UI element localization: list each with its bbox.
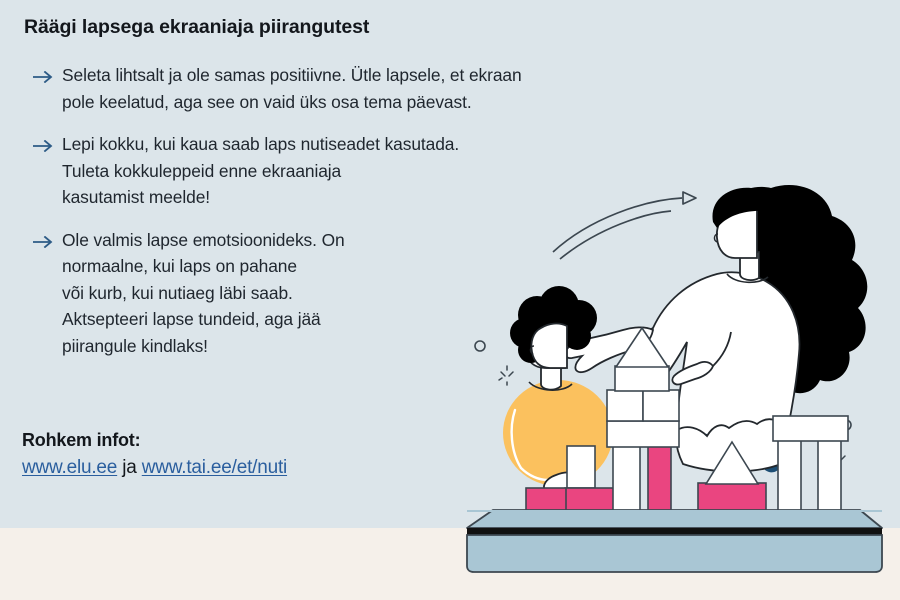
link-elu-ee[interactable]: www.elu.ee xyxy=(22,457,117,478)
footer-info: Rohkem infot: www.elu.ee ja www.tai.ee/e… xyxy=(22,427,482,483)
platform-top xyxy=(467,510,882,528)
block-white-rect xyxy=(567,446,595,488)
list-item-label: Lepi kokku, kui kaua saab laps nutiseade… xyxy=(62,131,474,211)
list-item-label: Ole valmis lapse emotsioonideks. On norm… xyxy=(62,227,474,360)
decorative-sparkle-icon xyxy=(499,366,513,385)
block-white-column xyxy=(778,440,801,511)
block-pink-rect xyxy=(698,483,766,511)
arrow-right-icon xyxy=(24,62,62,83)
bullet-line: Lepi kokku, kui kaua saab laps nutiseade… xyxy=(62,131,474,158)
text-column: Räägi lapsega ekraaniaja piirangutest Se… xyxy=(24,14,474,375)
bullet-line: Aktsepteeri lapse tundeid, aga jää xyxy=(62,306,474,333)
bullet-list: Seleta lihtsalt ja ole samas positiivne.… xyxy=(24,62,474,359)
bullet-line: normaalne, kui laps on pahane xyxy=(62,253,474,280)
block-white-square xyxy=(643,390,679,421)
platform-front xyxy=(467,535,882,572)
list-item-label: Seleta lihtsalt ja ole samas positiivne.… xyxy=(62,62,522,115)
bullet-line: Tuleta kokkuleppeid enne ekraaniaja xyxy=(62,158,474,185)
footer-links: www.elu.ee ja www.tai.ee/et/nuti xyxy=(22,453,482,483)
block-white-column xyxy=(613,446,640,511)
list-item: Lepi kokku, kui kaua saab laps nutiseade… xyxy=(24,131,474,211)
illustration-parent-and-child xyxy=(455,178,900,588)
bullet-line: Ole valmis lapse emotsioonideks. On xyxy=(62,227,474,254)
list-item: Seleta lihtsalt ja ole samas positiivne.… xyxy=(24,62,474,115)
arrow-right-icon xyxy=(24,131,62,152)
block-pink-column xyxy=(648,446,671,511)
block-white-column xyxy=(818,440,841,511)
list-item: Ole valmis lapse emotsioonideks. On norm… xyxy=(24,227,474,360)
footer-separator-word: ja xyxy=(122,457,136,478)
bullet-line: Seleta lihtsalt ja ole samas positiivne.… xyxy=(62,62,522,89)
block-pink-rect xyxy=(526,488,566,511)
arrow-right-icon xyxy=(24,227,62,248)
bullet-line: kasutamist meelde! xyxy=(62,184,474,211)
illustration-svg xyxy=(455,178,900,588)
bullet-line: või kurb, kui nutiaeg läbi saab. xyxy=(62,280,474,307)
slide-canvas: Räägi lapsega ekraaniaja piirangutest Se… xyxy=(0,0,900,600)
link-tai-ee[interactable]: www.tai.ee/et/nuti xyxy=(142,457,287,478)
platform-top-fill xyxy=(467,510,882,512)
bullet-line: piirangule kindlaks! xyxy=(62,333,474,360)
motion-arc-arrow-icon xyxy=(553,192,696,259)
child-figure xyxy=(503,286,613,494)
block-white-beam xyxy=(773,416,848,441)
bullet-line: pole keelatud, aga see on vaid üks osa t… xyxy=(62,89,522,116)
block-white-square xyxy=(607,390,643,421)
child-sweater xyxy=(503,380,613,486)
platform-stripe xyxy=(467,528,882,535)
child-face-front xyxy=(531,324,567,368)
block-white-plate xyxy=(615,366,669,391)
block-white-beam xyxy=(607,421,679,447)
footer-label: Rohkem infot: xyxy=(22,427,482,453)
page-title: Räägi lapsega ekraaniaja piirangutest xyxy=(24,14,474,40)
decorative-circle-icon xyxy=(475,341,485,351)
play-platform xyxy=(467,510,882,572)
